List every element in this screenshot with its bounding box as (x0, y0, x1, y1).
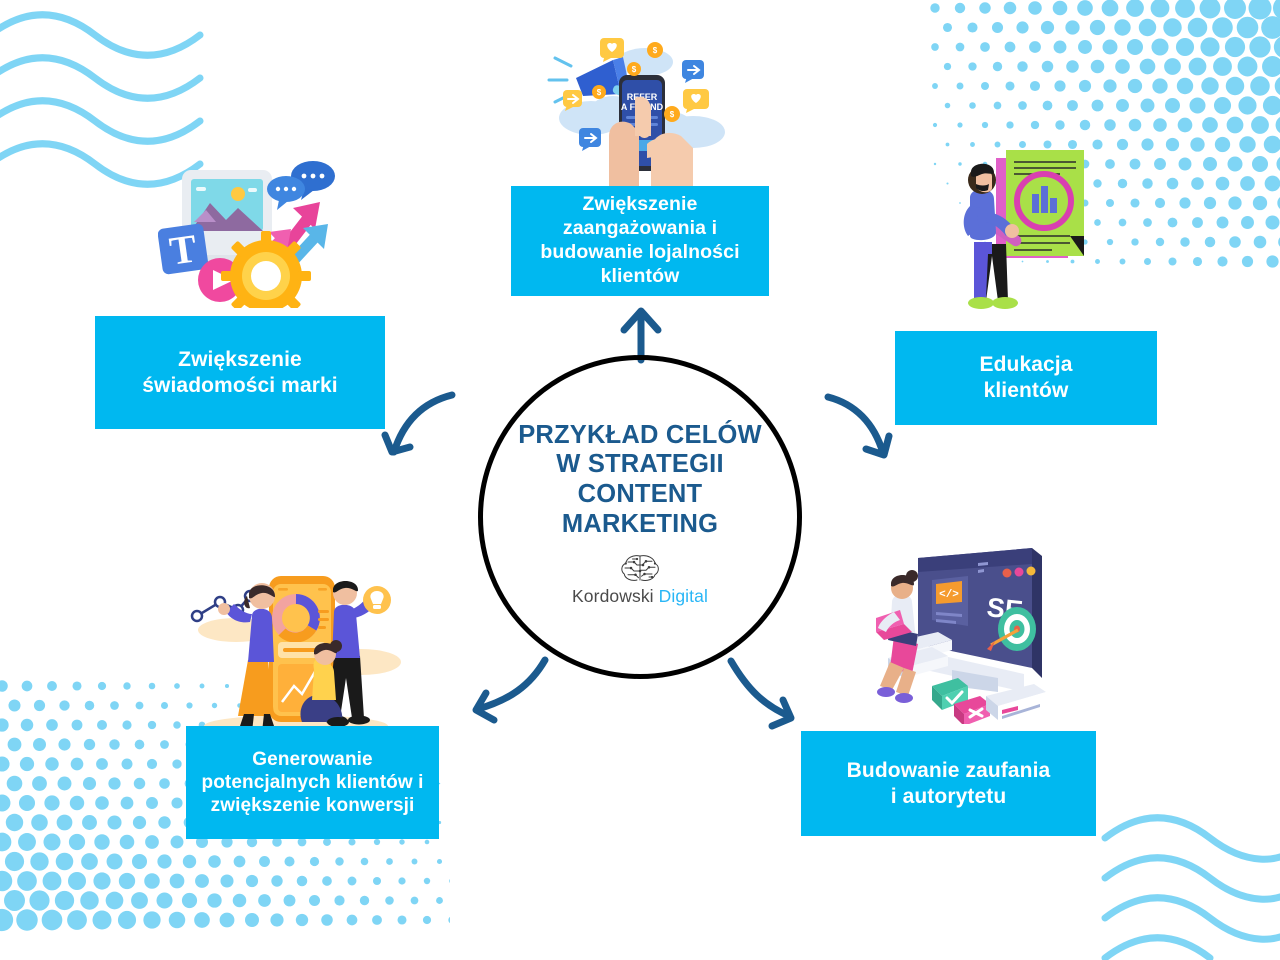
isometric-monitor: </> SE (918, 548, 1042, 692)
infographic-canvas: T (0, 0, 1280, 960)
text-tile-icon: T (158, 223, 209, 275)
logo-wordmark: Kordowski Digital (572, 586, 708, 607)
speech-bubble-icon (267, 176, 305, 210)
logo-word-one: Kordowski (572, 586, 654, 606)
svg-text:</>: </> (939, 589, 959, 601)
goal-box-engagement[interactable]: Zwiększenie zaangażowania i budowanie lo… (511, 186, 769, 296)
center-content: PRZYKŁAD CELÓW W STRATEGII CONTENT MARKE… (478, 355, 802, 679)
svg-text:$: $ (670, 110, 675, 119)
svg-text:$: $ (632, 65, 637, 74)
goal-box-lead-generation[interactable]: Generowanie potencjalnych klientów i zwi… (186, 726, 439, 839)
content-creation-illustration: T (158, 158, 348, 308)
arrow-to-top (624, 311, 658, 360)
document-analysis-illustration (948, 136, 1094, 312)
goal-box-customer-education[interactable]: Edukacja klientów (895, 331, 1157, 425)
arrow-to-left (385, 395, 452, 452)
page-title: PRZYKŁAD CELÓW W STRATEGII CONTENT MARKE… (518, 421, 762, 539)
hand-shape (647, 133, 693, 190)
mobile-analytics-illustration (186, 566, 404, 742)
goal-box-brand-awareness-label: Zwiększenie świadomości marki (142, 347, 337, 398)
share-icon (579, 128, 601, 151)
goal-box-engagement-label: Zwiększenie zaangażowania i budowanie lo… (540, 193, 739, 288)
goal-box-lead-generation-label: Generowanie potencjalnych klientów i zwi… (202, 748, 424, 818)
svg-text:$: $ (653, 46, 658, 55)
svg-text:$: $ (597, 88, 602, 97)
circuit-brain-icon (617, 553, 663, 583)
arrow-to-right (828, 397, 889, 455)
refer-a-friend-illustration: REFER A FRIEND (543, 32, 739, 192)
goal-box-brand-awareness[interactable]: Zwiększenie świadomości marki (95, 316, 385, 429)
share-icon (682, 60, 704, 83)
person-figure (876, 570, 918, 703)
wave-lines-bottom-right (1105, 818, 1280, 958)
goal-box-trust-authority[interactable]: Budowanie zaufania i autorytetu (801, 731, 1096, 836)
brand-logo: Kordowski Digital (572, 553, 708, 607)
goal-box-customer-education-label: Edukacja klientów (979, 352, 1072, 403)
seo-illustration: </> SE (856, 540, 1058, 724)
goal-box-trust-authority-label: Budowanie zaufania i autorytetu (847, 758, 1051, 809)
heart-icon (683, 89, 709, 113)
logo-word-two: Digital (659, 586, 708, 606)
